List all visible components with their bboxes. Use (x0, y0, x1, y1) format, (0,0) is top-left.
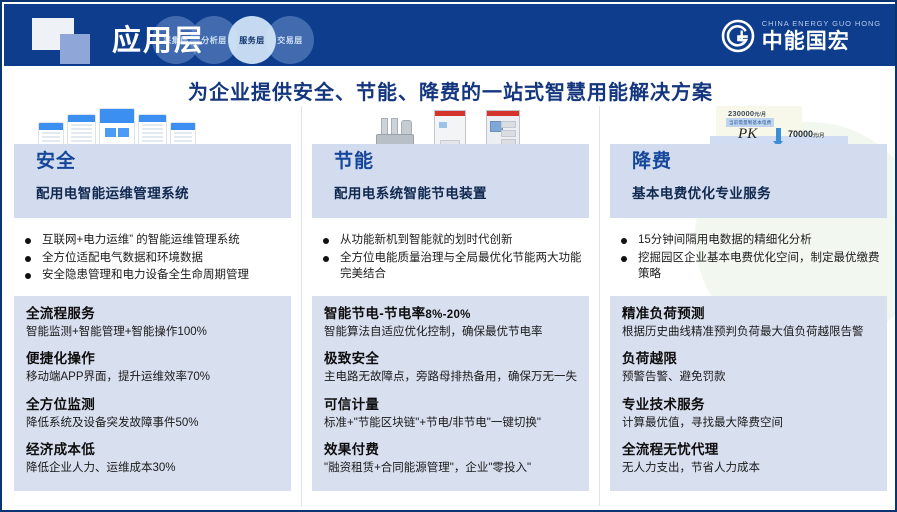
fact-item: 全流程无忧代理 无人力支出，节省人力成本 (622, 442, 875, 476)
bullet-item: 挖掘园区企业基本电费优化空间，制定最优缴费策略 (616, 250, 883, 283)
fact-item: 经济成本低 降低企业人力、运维成本30% (26, 442, 279, 476)
fact-item: 可信计量 标准+"节能区块链"+节电/非节电"一键切换" (324, 397, 577, 431)
pk-value-top: 230000元/月 (728, 109, 766, 118)
bullet-item: 全方位电能质量治理与全局最优化节能两大功能完美结合 (318, 250, 585, 283)
bullet-item: 安全隐患管理和电力设备全生命周期管理 (20, 267, 287, 284)
pk-band-top (716, 106, 802, 136)
fact-desc: 标准+"节能区块链"+节电/非节电"一键切换" (324, 416, 577, 432)
column-safety-facts: 全流程服务 智能监测+智能管理+智能操作100% 便捷化操作 移动端APP界面，… (14, 296, 291, 491)
fact-title: 便捷化操作 (26, 351, 279, 368)
pk-value-top-unit: 元/月 (754, 112, 766, 118)
fact-title: 极致安全 (324, 351, 577, 368)
fact-title-value: 8%-20% (425, 309, 470, 321)
fact-title: 负荷越限 (622, 351, 875, 368)
company-logo-mark-icon (721, 19, 755, 53)
fact-desc: 降低企业人力、运维成本30% (26, 461, 279, 477)
slide-root: 采集层 分析层 交易层 服务层 应用层 CHINA ENERG (0, 0, 897, 512)
fact-desc: 无人力支出，节省人力成本 (622, 461, 875, 477)
column-subtitle: 配用电系统智能节电装置 (334, 182, 589, 202)
column-cost-reduction-bullets: 15分钟间隔用电数据的精细化分析 挖掘园区企业基本电费优化空间，制定最优缴费策略 (616, 232, 887, 288)
column-subtitle: 配用电智能运维管理系统 (36, 182, 291, 202)
column-title: 安全 (36, 152, 291, 173)
fact-title-text: 智能节电-节电率 (324, 306, 425, 321)
logo-square-blue-icon (60, 34, 90, 64)
fact-item: 全方位监测 降低系统及设备突发故障事件50% (26, 397, 279, 431)
pk-savings-unit: 元/月 (813, 133, 824, 139)
fact-desc: "融资租赁+合同能源管理"，企业"零投入" (324, 461, 577, 477)
logo-english-name: CHINA ENERGY GUO HONG (762, 20, 881, 28)
column-energy-saving: 节能 配用电系统智能节电装置 从功能新机到智能就的划时代创新 全方位电能质量治理… (301, 106, 599, 506)
fact-item: 效果付费 "融资租赁+合同能源管理"，企业"零投入" (324, 442, 577, 476)
fact-item: 专业技术服务 计算最优值，寻找最大降费空间 (622, 397, 875, 431)
column-safety-bullets: 互联网+电力运维” 的智能运维管理系统 全方位适配电气数据和环境数据 安全隐患管… (20, 232, 291, 288)
column-subtitle: 基本电费优化专业服务 (632, 182, 887, 202)
fact-desc: 根据历史曲线精准预判负荷最大值负荷越限告警 (622, 325, 875, 341)
fact-title: 可信计量 (324, 397, 577, 414)
layer-circle-label: 分析层 (201, 35, 227, 46)
fact-title: 智能节电-节电率8%-20% (324, 306, 577, 323)
pk-savings: 70000元/月 (788, 129, 824, 139)
fact-item: 极致安全 主电路无故障点，旁路母排热备用，确保万无一失 (324, 351, 577, 385)
fact-desc: 预警告警、避免罚款 (622, 370, 875, 386)
bullet-item: 15分钟间隔用电数据的精细化分析 (616, 232, 883, 249)
header-layer-title: 应用层 (112, 17, 205, 59)
pk-label: PK (738, 126, 757, 143)
fact-title: 全流程服务 (26, 306, 279, 323)
column-cost-reduction-facts: 精准负荷预测 根据历史曲线精准预判负荷最大值负荷越限告警 负荷越限 预警告警、避… (610, 296, 887, 491)
pk-value-top-number: 230000 (728, 109, 754, 118)
column-cost-reduction: 230000元/月 当前需量制基本电费 PK 70000元/月 160000元/… (599, 106, 897, 506)
pk-tag-top: 当前需量制基本电费 (726, 118, 774, 127)
columns-container: 安全 配用电智能运维管理系统 互联网+电力运维” 的智能运维管理系统 全方位适配… (4, 106, 897, 506)
fact-desc: 智能算法自适应优化控制，确保最优节电率 (324, 325, 577, 341)
fact-desc: 智能监测+智能管理+智能操作100% (26, 325, 279, 341)
column-safety-header: 安全 配用电智能运维管理系统 (14, 144, 291, 218)
column-title: 节能 (334, 152, 589, 173)
company-logo: CHINA ENERGY GUO HONG 中能国宏 (721, 16, 881, 56)
column-cost-reduction-header: 降费 基本电费优化专业服务 (610, 144, 887, 218)
fact-desc: 主电路无故障点，旁路母排热备用，确保万无一失 (324, 370, 577, 386)
column-energy-saving-facts: 智能节电-节电率8%-20% 智能算法自适应优化控制，确保最优节电率 极致安全 … (312, 296, 589, 491)
fact-title: 全方位监测 (26, 397, 279, 414)
column-safety: 安全 配用电智能运维管理系统 互联网+电力运维” 的智能运维管理系统 全方位适配… (4, 106, 301, 506)
layer-circle-label: 交易层 (277, 35, 303, 46)
fact-item: 便捷化操作 移动端APP界面，提升运维效率70% (26, 351, 279, 385)
layer-circle-label: 服务层 (239, 35, 265, 46)
column-energy-saving-header: 节能 配用电系统智能节电装置 (312, 144, 589, 218)
logo-chinese-name: 中能国宏 (762, 31, 881, 52)
fact-item: 智能节电-节电率8%-20% 智能算法自适应优化控制，确保最优节电率 (324, 306, 577, 340)
fact-desc: 降低系统及设备突发故障事件50% (26, 416, 279, 432)
fact-item: 精准负荷预测 根据历史曲线精准预判负荷最大值负荷越限告警 (622, 306, 875, 340)
bullet-item: 互联网+电力运维” 的智能运维管理系统 (20, 232, 287, 249)
fact-item: 负荷越限 预警告警、避免罚款 (622, 351, 875, 385)
layer-circle-service-active[interactable]: 服务层 (228, 16, 276, 64)
column-energy-saving-bullets: 从功能新机到智能就的划时代创新 全方位电能质量治理与全局最优化节能两大功能完美结… (318, 232, 589, 288)
fact-title: 效果付费 (324, 442, 577, 459)
bullet-item: 全方位适配电气数据和环境数据 (20, 250, 287, 267)
fact-title: 全流程无忧代理 (622, 442, 875, 459)
fact-title: 经济成本低 (26, 442, 279, 459)
fact-desc: 移动端APP界面，提升运维效率70% (26, 370, 279, 386)
fact-desc: 计算最优值，寻找最大降费空间 (622, 416, 875, 432)
column-title: 降费 (632, 152, 887, 173)
fact-title: 精准负荷预测 (622, 306, 875, 323)
bullet-item: 从功能新机到智能就的划时代创新 (318, 232, 585, 249)
fact-item: 全流程服务 智能监测+智能管理+智能操作100% (26, 306, 279, 340)
fact-title: 专业技术服务 (622, 397, 875, 414)
header-bar: 采集层 分析层 交易层 服务层 应用层 CHINA ENERG (4, 4, 897, 66)
pk-savings-number: 70000 (788, 129, 813, 139)
pk-down-arrow-icon (776, 128, 781, 141)
page-title: 为企业提供安全、节能、降费的一站式智慧用能解决方案 (2, 76, 897, 105)
